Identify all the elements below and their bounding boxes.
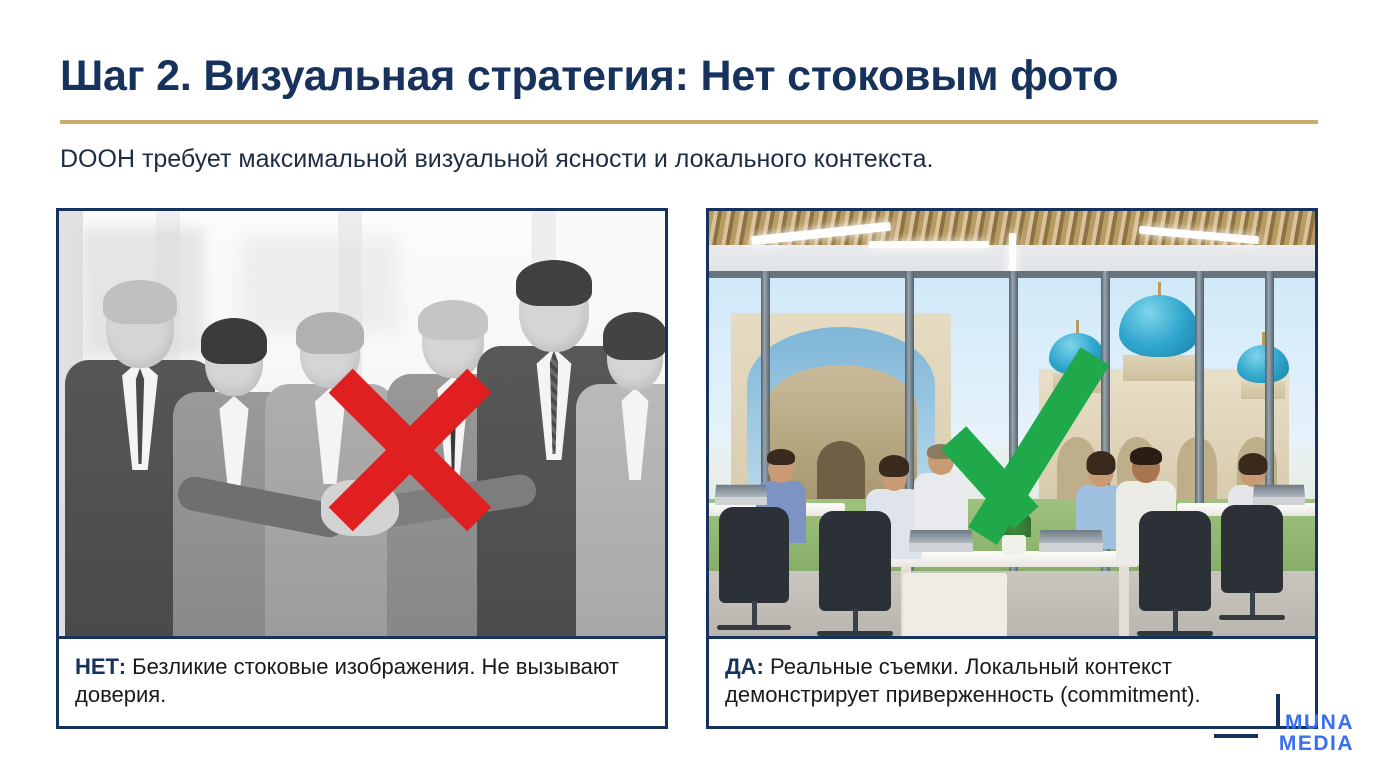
title-divider (60, 120, 1318, 124)
person-hair (418, 300, 488, 340)
worker-hair (879, 455, 909, 477)
desk-pedestal (903, 573, 1007, 636)
laptop (1253, 497, 1305, 505)
office-worker (915, 445, 967, 539)
negative-example-panel: НЕТ: Безликие стоковые изображения. Не в… (56, 208, 668, 729)
laptop (715, 497, 767, 505)
positive-caption: ДА: Реальные съемки. Локальный контекст … (709, 639, 1315, 726)
handshake-hands (321, 480, 399, 536)
dome-drum (1123, 355, 1195, 381)
ceiling-lamp (869, 241, 989, 248)
negative-caption-lead: НЕТ: (75, 654, 126, 679)
laptop (1039, 543, 1103, 552)
person-figure (579, 290, 665, 636)
worker-hair (1130, 447, 1162, 465)
desk-plant (997, 507, 1031, 537)
office-chair (1221, 505, 1283, 593)
person-hair (603, 312, 665, 360)
logo-dash-icon (1214, 734, 1258, 738)
positive-caption-text: Реальные съемки. Локальный контекст демо… (725, 654, 1201, 707)
person-hair (103, 280, 177, 324)
worker-hair (767, 449, 795, 465)
worker-hair (1087, 451, 1116, 475)
slide: Шаг 2. Визуальная стратегия: Нет стоковы… (0, 0, 1376, 768)
page-title: Шаг 2. Визуальная стратегия: Нет стоковы… (60, 52, 1118, 101)
office-chair (819, 511, 891, 611)
worker-hair (1239, 453, 1268, 475)
person-body (576, 384, 665, 636)
logo-line-2: MEDIA (1279, 733, 1354, 754)
person-figure (267, 284, 393, 636)
negative-caption: НЕТ: Безликие стоковые изображения. Не в… (59, 639, 665, 726)
page-subtitle: DOOH требует максимальной визуальной ясн… (60, 145, 933, 174)
office-chair (719, 507, 789, 603)
stock-photo-backdrop (59, 211, 665, 636)
desk-leg (1119, 567, 1129, 636)
office-chair (1139, 511, 1211, 611)
dome-drum (1053, 373, 1101, 393)
chair-base (1137, 631, 1213, 636)
chair-base (717, 625, 791, 630)
laptop (909, 543, 973, 552)
chair-base (1219, 615, 1285, 620)
stock-photo-image (59, 211, 665, 639)
office-photo-backdrop (709, 211, 1315, 636)
real-office-photo-image (709, 211, 1315, 639)
positive-caption-lead: ДА: (725, 654, 764, 679)
chair-base (817, 631, 893, 636)
brand-logo: MUNA MEDIA (1279, 712, 1354, 754)
worker-hair (927, 444, 955, 459)
person-hair (201, 318, 267, 364)
entrance-door (817, 441, 865, 499)
person-hair (296, 312, 364, 354)
dome-drum (1241, 381, 1285, 399)
positive-example-panel: ДА: Реальные съемки. Локальный контекст … (706, 208, 1318, 729)
negative-caption-text: Безликие стоковые изображения. Не вызыва… (75, 654, 619, 707)
logo-line-1: MUNA (1279, 712, 1354, 733)
